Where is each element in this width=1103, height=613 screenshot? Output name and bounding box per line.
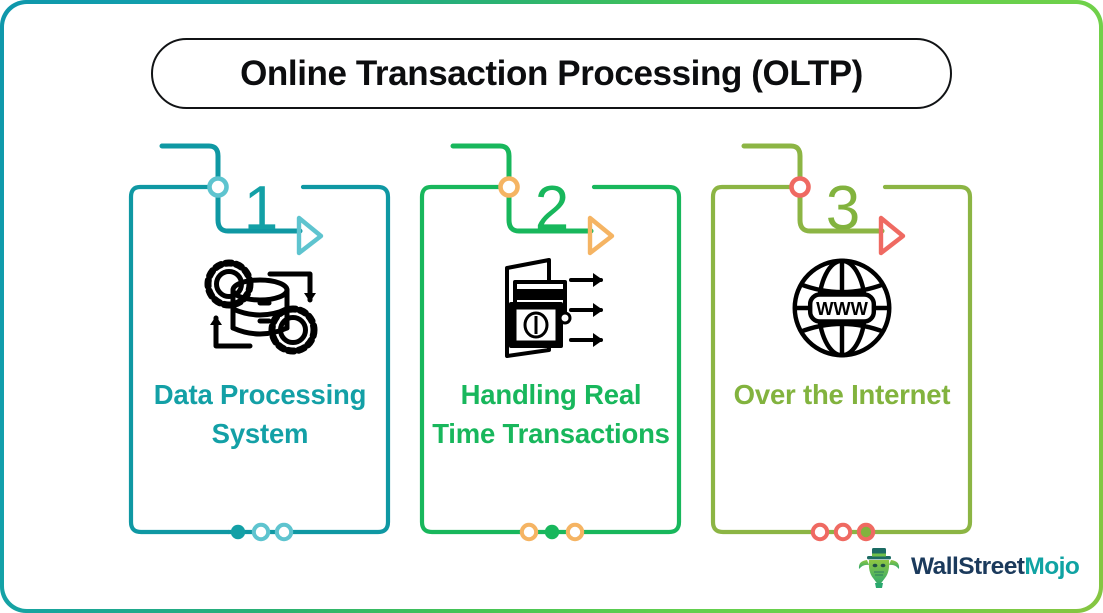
infographic-root: Online Transaction Processing (OLTP) 1 bbox=[0, 0, 1103, 613]
bull-mascot-logo bbox=[856, 545, 902, 589]
page-title-pill: Online Transaction Processing (OLTP) bbox=[151, 38, 952, 109]
globe-www-icon: WWW bbox=[782, 255, 902, 360]
brand-name-secondary: Mojo bbox=[1024, 553, 1079, 580]
brand-name-primary: WallStreet bbox=[911, 553, 1024, 580]
step-2-label: Handling Real Time Transactions bbox=[421, 375, 681, 453]
brand-logo[interactable]: WallStreetMojo bbox=[856, 543, 1074, 591]
brand-name: WallStreetMojo bbox=[911, 553, 1079, 581]
step-card-1: Data Processing System bbox=[130, 180, 390, 535]
database-gears-icon bbox=[200, 255, 320, 360]
step-1-label: Data Processing System bbox=[130, 375, 390, 453]
infographic-stage: Online Transaction Processing (OLTP) 1 bbox=[0, 0, 1103, 613]
step-3-label: Over the Internet bbox=[712, 375, 972, 414]
step-card-3: WWW Over the Internet bbox=[712, 180, 972, 535]
svg-text:WWW: WWW bbox=[816, 297, 869, 318]
page-title: Online Transaction Processing (OLTP) bbox=[240, 54, 863, 94]
wallet-cash-arrows-icon bbox=[491, 255, 611, 360]
step-card-2: Handling Real Time Transactions bbox=[421, 180, 681, 535]
